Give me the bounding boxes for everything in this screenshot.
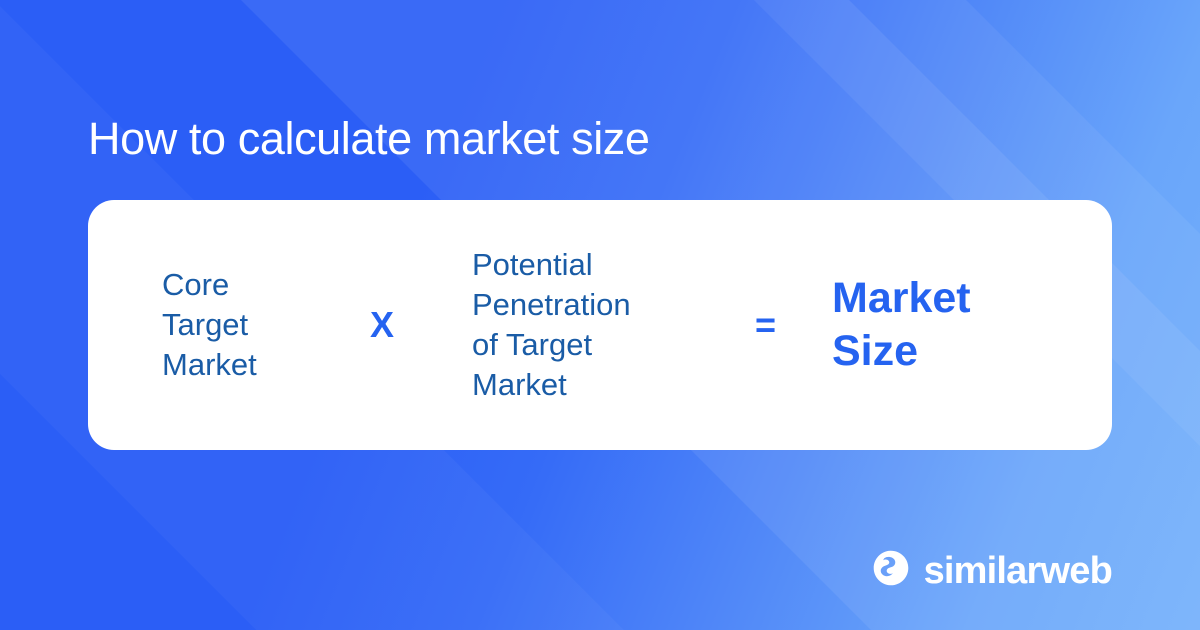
formula-operator-equals: =: [712, 305, 832, 345]
formula-term-potential-penetration: Potential Penetration of Target Market: [472, 245, 712, 405]
page-title: How to calculate market size: [88, 113, 650, 165]
banner: How to calculate market size Core Target…: [0, 0, 1200, 630]
formula-row: Core Target Market X Potential Penetrati…: [88, 200, 1112, 450]
formula-result-market-size: Market Size: [832, 272, 971, 378]
similarweb-swirl-icon: [872, 549, 910, 592]
similarweb-logo: similarweb: [872, 549, 1112, 592]
formula-term-core-target-market: Core Target Market: [162, 265, 347, 385]
similarweb-wordmark: similarweb: [924, 552, 1112, 590]
formula-card: Core Target Market X Potential Penetrati…: [88, 200, 1112, 450]
formula-operator-multiply: X: [347, 305, 472, 345]
